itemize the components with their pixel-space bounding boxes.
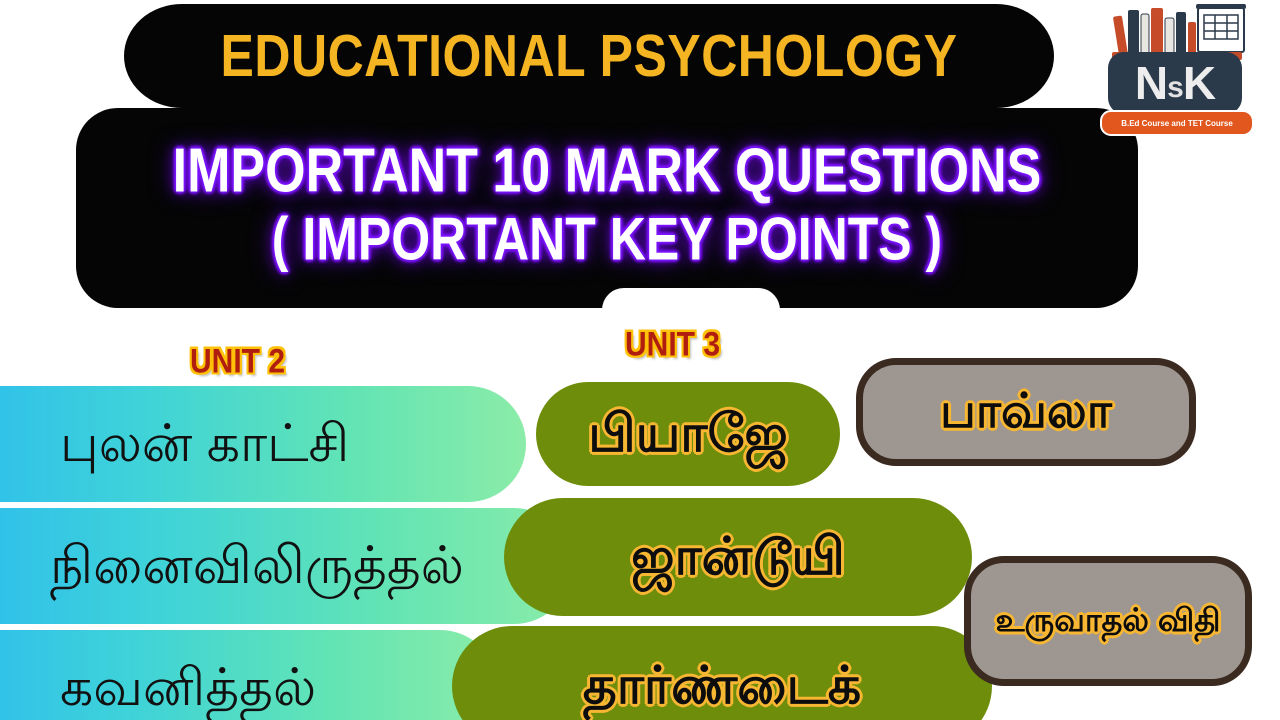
- topic-pill-unit2-2[interactable]: நினைவிலிருத்தல்: [0, 508, 572, 624]
- topic-label: புலன் காட்சி: [60, 418, 349, 470]
- page-title: EDUCATIONAL PSYCHOLOGY: [221, 27, 958, 86]
- headline-banner: IMPORTANT 10 MARK QUESTIONS ( IMPORTANT …: [76, 108, 1138, 308]
- subject-title-banner: EDUCATIONAL PSYCHOLOGY: [124, 4, 1054, 108]
- logo-plaque: NsK: [1108, 52, 1242, 114]
- topic-label: உருவாதல் விதி: [996, 601, 1221, 640]
- topic-box-law-of-formation[interactable]: உருவாதல் விதி: [964, 556, 1252, 686]
- nsk-logo: NsK B.Ed Course and TET Course: [1092, 2, 1258, 142]
- topic-box-pavlov[interactable]: பாவ்லா: [856, 358, 1196, 466]
- topic-pill-unit3-2[interactable]: ஜான்டூயி: [504, 498, 972, 616]
- slide-canvas: EDUCATIONAL PSYCHOLOGY IMPORTANT 10 MARK…: [0, 0, 1280, 720]
- topic-label: பாவ்லா: [940, 388, 1112, 436]
- headline-line-2: ( IMPORTANT KEY POINTS ): [272, 209, 942, 270]
- logo-tagline-ribbon: B.Ed Course and TET Course: [1100, 110, 1254, 136]
- unit-3-label: UNIT 3: [625, 325, 720, 364]
- topic-label: தார்ண்டைக்: [583, 660, 861, 712]
- headline-line-1: IMPORTANT 10 MARK QUESTIONS: [173, 140, 1042, 204]
- topic-label: கவனித்தல்: [60, 662, 316, 714]
- logo-wordmark: NsK: [1135, 60, 1215, 106]
- topic-label: ஜான்டூயி: [631, 531, 845, 583]
- logo-tagline: B.Ed Course and TET Course: [1121, 119, 1233, 128]
- topic-pill-unit3-1[interactable]: பியாஜே: [536, 382, 840, 486]
- topic-pill-unit3-3[interactable]: தார்ண்டைக்: [452, 626, 992, 720]
- topic-label: நினைவிலிருத்தல்: [50, 540, 464, 592]
- topic-pill-unit2-3[interactable]: கவனித்தல்: [0, 630, 498, 720]
- topic-label: பியாஜே: [588, 408, 787, 460]
- unit-2-label: UNIT 2: [190, 342, 285, 381]
- topic-pill-unit2-1[interactable]: புலன் காட்சி: [0, 386, 526, 502]
